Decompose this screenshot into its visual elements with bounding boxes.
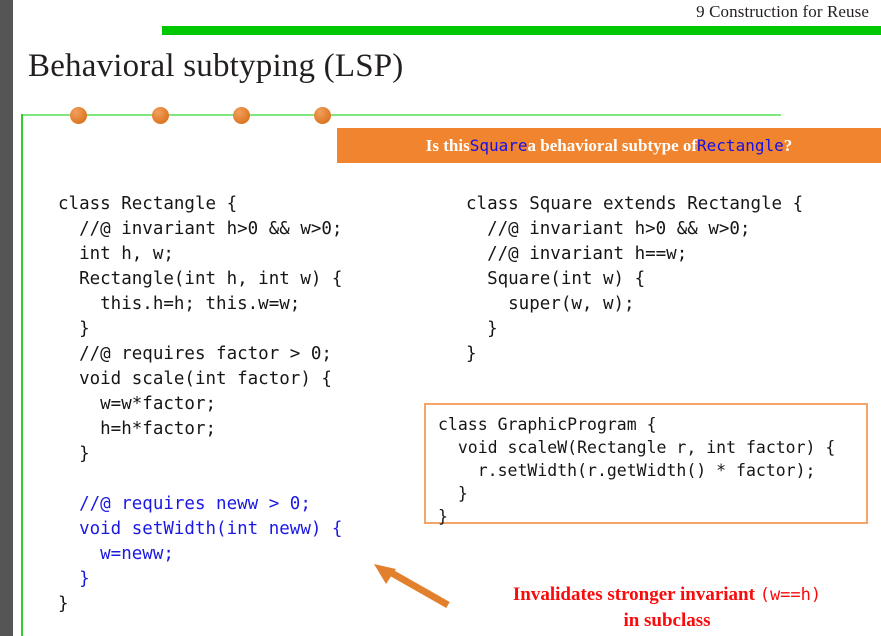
code-block-square: class Square extends Rectangle { //@ inv…	[466, 192, 803, 367]
frame-left-line	[21, 114, 23, 636]
banner-suffix-text: ?	[784, 136, 793, 156]
banner-prefix-text: Is this	[426, 136, 470, 156]
frame-top-line	[21, 114, 781, 116]
slide: 9 Construction for Reuse Behavioral subt…	[0, 0, 881, 636]
annotation-text: Invalidates stronger invariant (w==h)in …	[462, 582, 872, 633]
banner-super-class: Rectangle	[697, 136, 784, 155]
annotation-line2: in subclass	[623, 610, 710, 631]
code-block-rectangle: class Rectangle { //@ invariant h>0 && w…	[58, 192, 342, 617]
header-green-rule	[162, 26, 881, 35]
left-accent-bar	[0, 0, 13, 636]
code-rectangle-black: class Rectangle { //@ invariant h>0 && w…	[58, 194, 342, 464]
banner-middle-text: a behavioral subtype of	[527, 136, 697, 156]
annotation-line1-prefix: Invalidates stronger invariant	[513, 584, 760, 605]
graphic-program-box: class GraphicProgram { void scaleW(Recta…	[424, 403, 868, 524]
code-rectangle-closing-brace: }	[58, 594, 69, 614]
header-chapter-label: 9 Construction for Reuse	[696, 2, 869, 22]
bullet-dot-2	[152, 107, 169, 124]
annotation-line1-code: (w==h)	[760, 585, 821, 605]
bullet-dot-1	[70, 107, 87, 124]
annotation-arrow-icon	[370, 560, 456, 610]
code-rectangle-setwidth: //@ requires neww > 0; void setWidth(int…	[58, 494, 342, 589]
banner-subtype-class: Square	[470, 136, 528, 155]
code-block-graphic-program: class GraphicProgram { void scaleW(Recta…	[438, 413, 835, 528]
bullet-dot-4	[314, 107, 331, 124]
bullet-dot-3	[233, 107, 250, 124]
question-banner: Is this Square a behavioral subtype of R…	[337, 128, 881, 163]
page-title: Behavioral subtyping (LSP)	[28, 48, 404, 85]
